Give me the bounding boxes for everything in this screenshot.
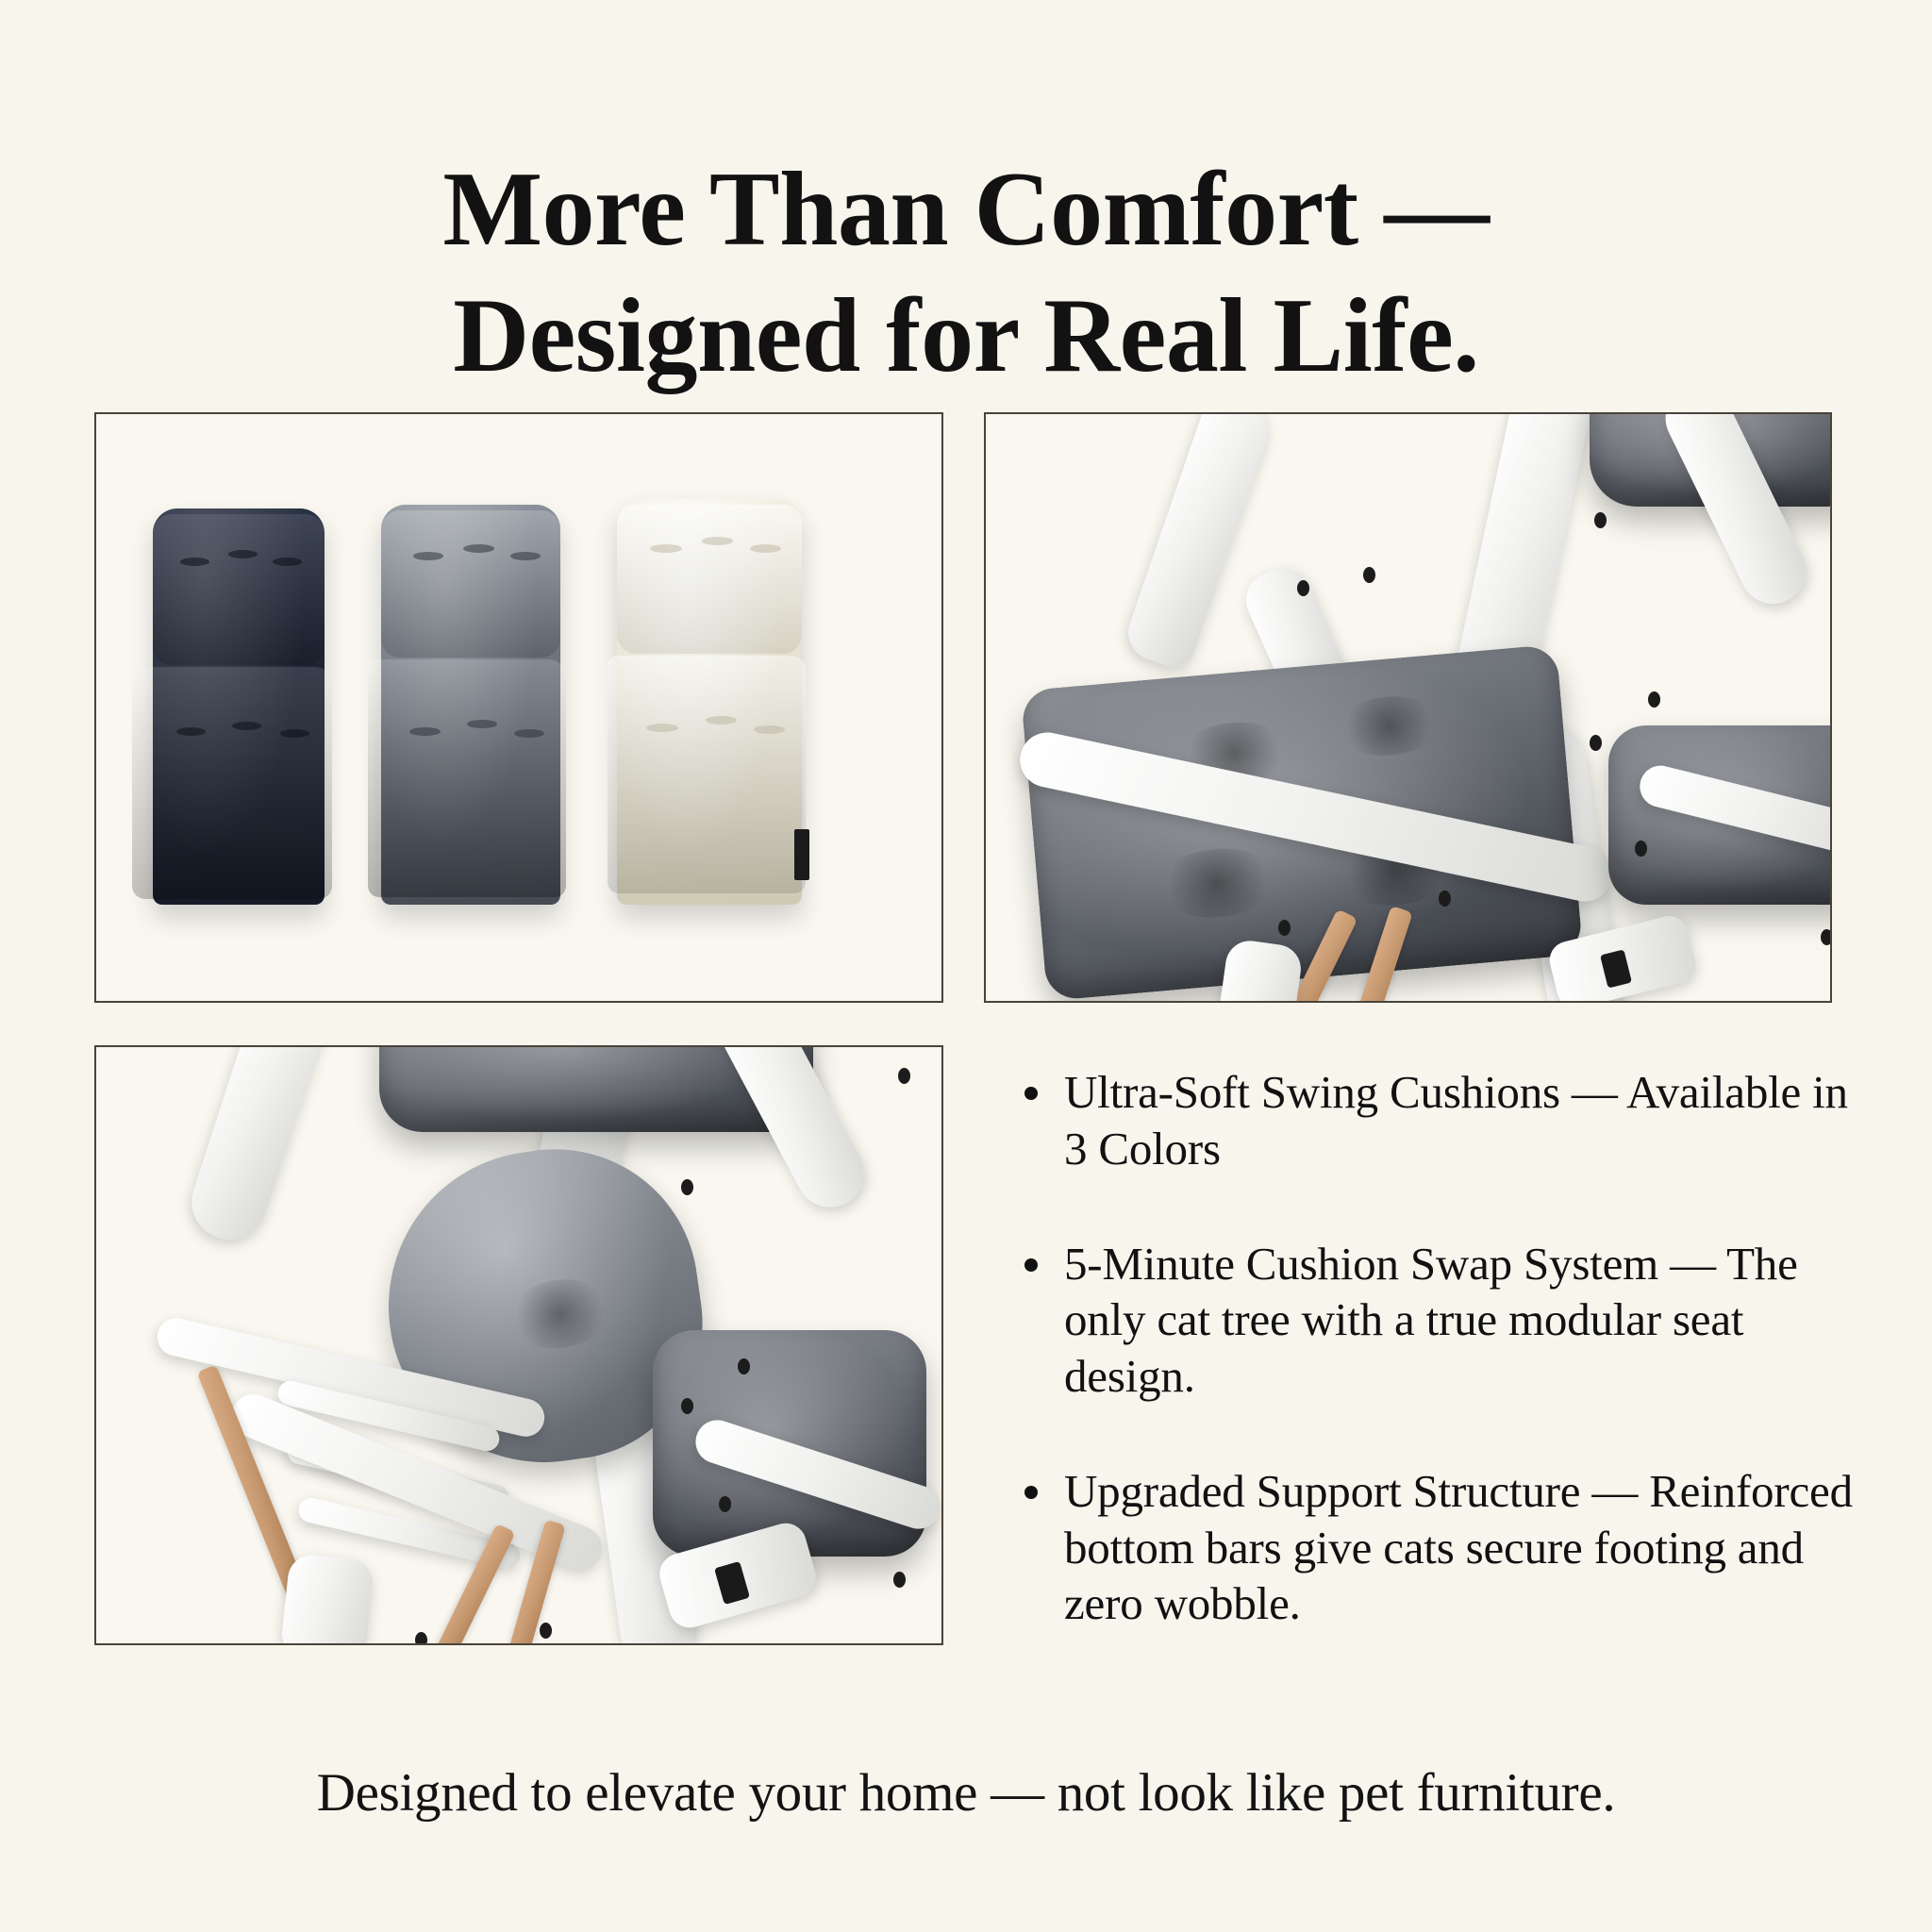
feature-bullet-item: Ultra-Soft Swing Cushions — Available in…	[1019, 1064, 1868, 1177]
screw-head	[738, 1358, 750, 1374]
screw-head	[1297, 580, 1309, 596]
frame-rail-upper-left	[1121, 412, 1279, 673]
cushion-back-section	[153, 514, 325, 665]
tuft-dimple	[409, 727, 440, 736]
cushion-back-section	[617, 505, 802, 654]
tuft-dimple	[646, 724, 677, 732]
feature-bullet-item: Upgraded Support Structure — Reinforced …	[1019, 1463, 1868, 1632]
page-title-line-1: More Than Comfort —	[0, 146, 1932, 273]
screw-head	[898, 1068, 910, 1084]
tuft-dimple	[1154, 843, 1282, 922]
screw-head	[1439, 891, 1451, 907]
screw-head	[1635, 841, 1647, 857]
screw-head	[540, 1623, 552, 1639]
screw-head	[415, 1632, 427, 1645]
tuft-dimple	[650, 544, 681, 553]
panel-cushion-colorways	[94, 412, 943, 1003]
tuft-dimple	[514, 729, 544, 738]
footer-tagline: Designed to elevate your home — not look…	[0, 1762, 1932, 1824]
screw-head	[1648, 691, 1660, 708]
cushion-seat-section	[608, 656, 806, 893]
cushions-colorway-photo	[96, 414, 941, 1001]
cushion-swatch-cream	[617, 499, 802, 905]
panel-seat-closeup	[984, 412, 1832, 1003]
feature-bullet-item: 5-Minute Cushion Swap System — The only …	[1019, 1236, 1868, 1405]
tuft-dimple	[280, 729, 309, 738]
tuft-dimple	[228, 550, 258, 558]
screw-head	[681, 1179, 693, 1195]
screw-head	[893, 1572, 906, 1588]
frame-rail-upper-left	[182, 1045, 350, 1249]
screw-head	[1590, 735, 1602, 751]
seat-closeup-photo	[986, 414, 1830, 1001]
page-title-line-2: Designed for Real Life.	[0, 273, 1932, 399]
support-structure-photo	[96, 1047, 941, 1643]
cushion-seat-section	[132, 667, 332, 899]
screw-head	[681, 1398, 693, 1414]
tuft-dimple	[504, 1273, 616, 1355]
tuft-dimple	[180, 558, 209, 566]
screw-head	[719, 1496, 731, 1512]
tuft-dimple	[1334, 692, 1442, 759]
cushion-seat-section	[368, 659, 566, 897]
tuft-dimple	[754, 725, 785, 734]
product-care-tag	[794, 829, 809, 880]
base-foot-left	[279, 1553, 375, 1645]
cushion-swatch-navy	[153, 508, 325, 905]
cushion-swatch-gray	[381, 505, 560, 905]
screw-head	[1821, 929, 1832, 945]
feature-bullet-list: Ultra-Soft Swing Cushions — Available in…	[1019, 1064, 1868, 1632]
screw-head	[1594, 512, 1607, 528]
screw-head	[1363, 567, 1375, 583]
cushion-back-section	[381, 510, 560, 658]
screw-head	[1278, 920, 1291, 936]
panel-support-structure	[94, 1045, 943, 1645]
tuft-dimple	[510, 552, 541, 560]
page-title: More Than Comfort — Designed for Real Li…	[0, 146, 1932, 400]
tuft-dimple	[463, 544, 493, 553]
tuft-dimple	[232, 722, 261, 730]
